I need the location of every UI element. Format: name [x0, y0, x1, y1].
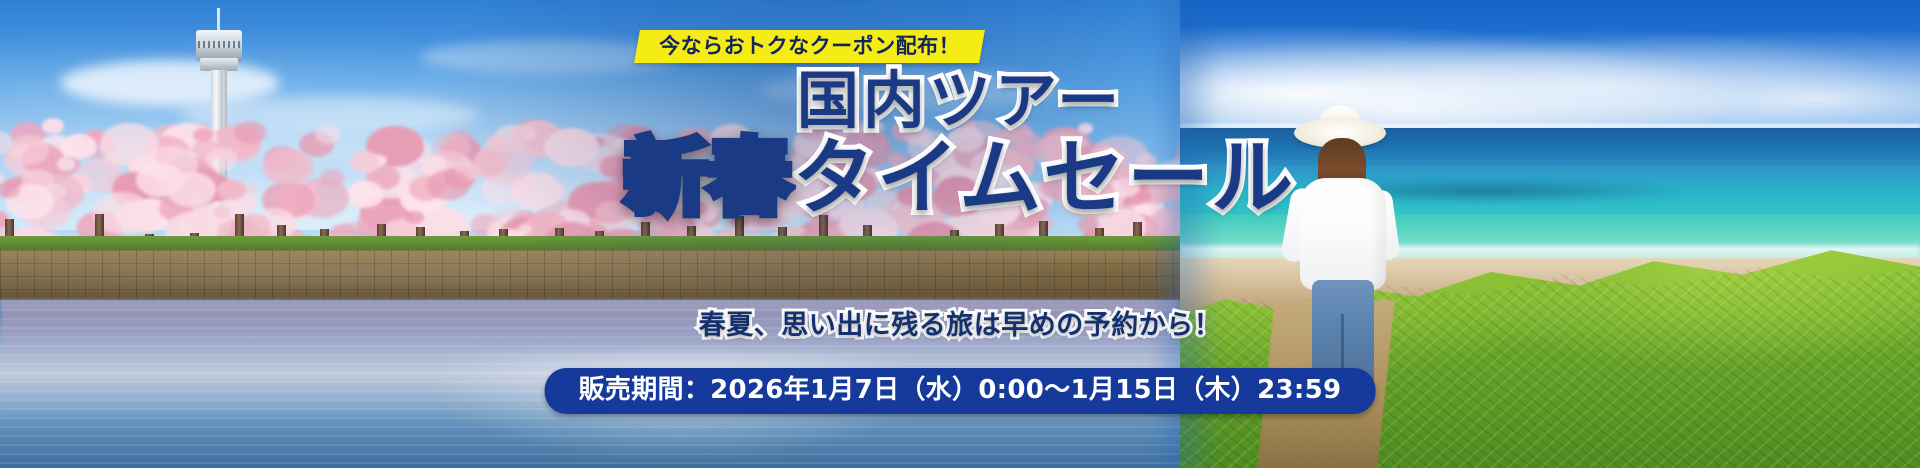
title-line-1: 国内ツアー: [0, 70, 1920, 132]
sale-period-badge: 販売期間：2026年1月7日（水）0:00〜1月15日（木）23:59: [545, 368, 1376, 414]
banner-title: 国内ツアー 新春タイムセール: [0, 70, 1920, 220]
title-line-2: 新春タイムセール: [0, 138, 1920, 220]
campaign-banner[interactable]: 今ならおトクなクーポン配布！ 国内ツアー 新春タイムセール 春夏、思い出に残る旅…: [0, 0, 1920, 468]
banner-subtitle: 春夏、思い出に残る旅は早めの予約から！: [0, 303, 1920, 342]
title-line-2-gold: 新春: [625, 131, 793, 226]
coupon-ribbon: 今ならおトクなクーポン配布！: [634, 30, 985, 63]
coupon-ribbon-label: 今ならおトクなクーポン配布！: [659, 34, 960, 58]
banner-foreground: 今ならおトクなクーポン配布！ 国内ツアー 新春タイムセール 春夏、思い出に残る旅…: [0, 0, 1920, 468]
sale-period-label: 販売期間：2026年1月7日（水）0:00〜1月15日（木）23:59: [579, 375, 1342, 405]
title-line-2-navy: タイムセール: [793, 131, 1295, 226]
title-line-2-gold-wrap: 新春: [625, 138, 793, 220]
